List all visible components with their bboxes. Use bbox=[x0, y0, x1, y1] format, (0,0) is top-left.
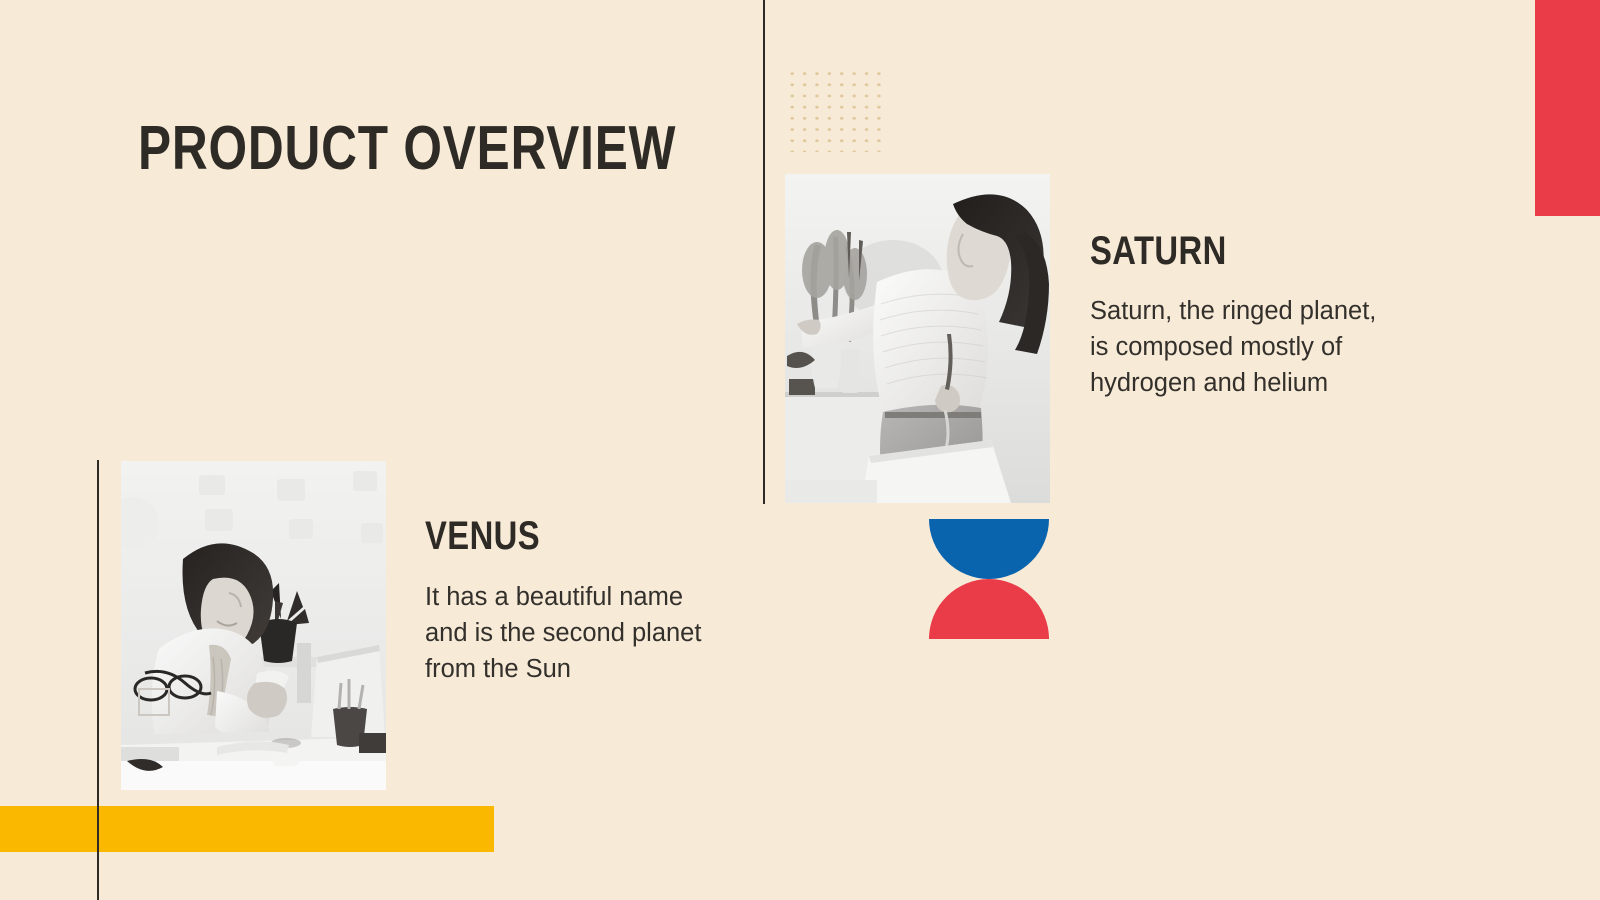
vertical-rule-lower-tail bbox=[97, 852, 99, 900]
yellow-bar bbox=[0, 806, 494, 852]
red-corner-block bbox=[1535, 0, 1600, 216]
venus-photo-image bbox=[121, 461, 386, 790]
saturn-photo-image bbox=[785, 174, 1050, 503]
red-half-circle bbox=[929, 579, 1049, 639]
saturn-photo bbox=[785, 174, 1050, 503]
venus-photo bbox=[121, 461, 386, 790]
page-title: PRODUCT OVERVIEW bbox=[138, 112, 676, 186]
vertical-rule-upper bbox=[763, 0, 765, 504]
saturn-heading: SATURN bbox=[1090, 229, 1336, 273]
vertical-rule-lower bbox=[97, 460, 99, 900]
dot-grid-pattern bbox=[784, 66, 888, 152]
half-circle-ornament bbox=[929, 519, 1049, 639]
venus-text-block: VENUS It has a beautiful name and is the… bbox=[425, 514, 710, 687]
blue-half-circle bbox=[929, 519, 1049, 579]
slide-canvas: PRODUCT OVERVIEW bbox=[0, 0, 1600, 900]
venus-body: It has a beautiful name and is the secon… bbox=[425, 579, 710, 687]
venus-heading: VENUS bbox=[425, 514, 659, 558]
saturn-text-block: SATURN Saturn, the ringed planet, is com… bbox=[1090, 229, 1390, 401]
saturn-body: Saturn, the ringed planet, is composed m… bbox=[1090, 293, 1390, 401]
